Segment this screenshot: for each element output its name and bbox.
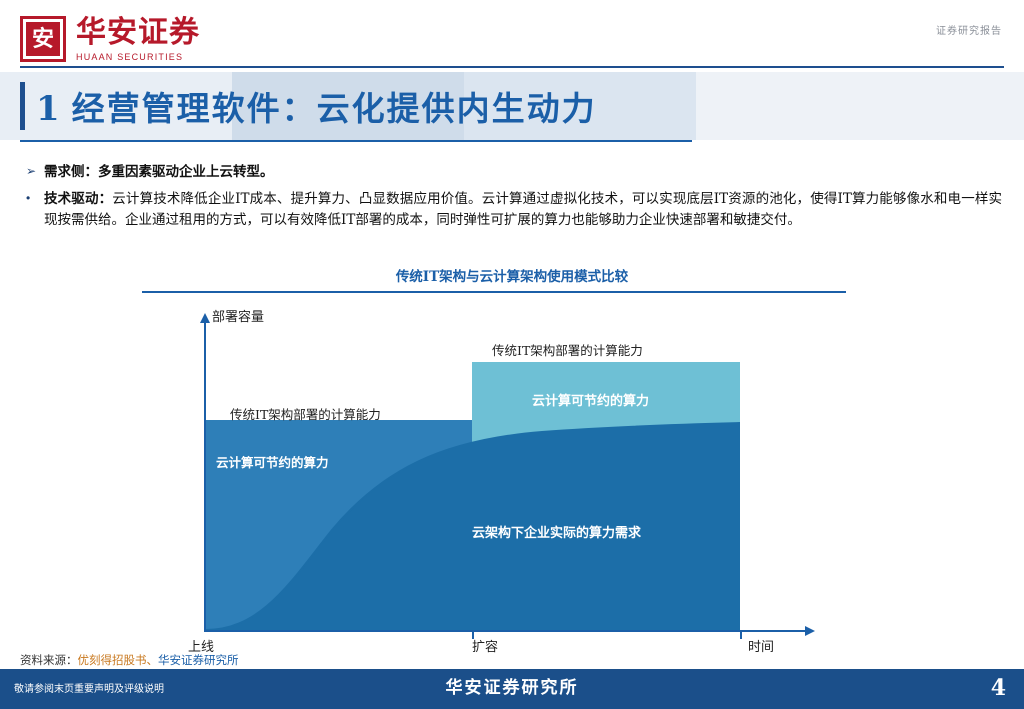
- logo-company-name: 华安证券: [76, 17, 200, 49]
- bullet-marker-icon: ➢: [22, 162, 44, 181]
- bullet-lead: 技术驱动：: [44, 191, 112, 207]
- section-number: 1: [36, 89, 60, 129]
- logo-company-name-en: HUAAN SECURITIES: [76, 52, 200, 62]
- label-cloud-saving-left: 云计算可节约的算力: [216, 452, 329, 471]
- logo-text: 华安证券 HUAAN SECURITIES: [76, 17, 200, 62]
- exhibit-divider: [142, 291, 846, 293]
- x-tick-label-2: 扩容: [472, 636, 498, 655]
- source-label: 资料来源：: [20, 653, 78, 667]
- header-note: 证券研究报告: [936, 22, 1002, 37]
- bullet-lead: 需求侧：: [44, 164, 98, 180]
- brand-logo: 安 华安证券 HUAAN SECURITIES: [20, 16, 200, 62]
- x-tick-mark-3: [740, 630, 742, 639]
- logo-glyph: 安: [26, 22, 60, 56]
- exhibit-title: 传统IT架构与云计算架构使用模式比较: [0, 265, 1024, 285]
- bullet-list: ➢ 需求侧：多重因素驱动企业上云转型。 • 技术驱动：云计算技术降低企业IT成本…: [22, 162, 1002, 237]
- page-title: 1 经营管理软件：云化提供内生动力: [20, 82, 597, 130]
- page-number: 4: [991, 675, 1006, 701]
- y-axis-label: 部署容量: [212, 306, 264, 325]
- band-segment-4: [696, 72, 1024, 140]
- title-underline: [20, 140, 692, 142]
- list-item: • 技术驱动：云计算技术降低企业IT成本、提升算力、凸显数据应用价值。云计算通过…: [22, 189, 1002, 231]
- label-cloud-saving-right: 云计算可节约的算力: [532, 390, 649, 409]
- header-divider: [20, 66, 1004, 68]
- logo-mark-icon: 安: [20, 16, 66, 62]
- bullet-marker-icon: •: [22, 189, 44, 208]
- section-title: 经营管理软件：云化提供内生动力: [72, 82, 597, 130]
- source-value: 优刻得招股书、: [78, 653, 159, 667]
- label-traditional-capacity-left: 传统IT架构部署的计算能力: [230, 404, 381, 423]
- x-tick-label-3: 时间: [748, 636, 774, 655]
- list-item: ➢ 需求侧：多重因素驱动企业上云转型。: [22, 162, 1002, 183]
- y-axis: [204, 322, 206, 632]
- footer-brand: 华安证券研究所: [0, 673, 1024, 698]
- x-axis: [204, 630, 806, 632]
- source-value-2: 华安证券研究所: [158, 653, 239, 667]
- source-note: 资料来源：优刻得招股书、华安证券研究所: [20, 652, 239, 668]
- bullet-text: 技术驱动：云计算技术降低企业IT成本、提升算力、凸显数据应用价值。云计算通过虚拟…: [44, 189, 1002, 231]
- exhibit-chart: 部署容量 传统IT架构部署的计算能力 传统IT架构部署的计算能力 云计算可节约的…: [142, 300, 846, 660]
- bullet-text: 需求侧：多重因素驱动企业上云转型。: [44, 162, 274, 183]
- label-traditional-capacity-right: 传统IT架构部署的计算能力: [492, 340, 643, 359]
- bullet-body: 云计算技术降低企业IT成本、提升算力、凸显数据应用价值。云计算通过虚拟化技术，可…: [44, 191, 1002, 228]
- label-actual-demand: 云架构下企业实际的算力需求: [472, 522, 641, 541]
- bullet-body: 多重因素驱动企业上云转型。: [98, 164, 274, 180]
